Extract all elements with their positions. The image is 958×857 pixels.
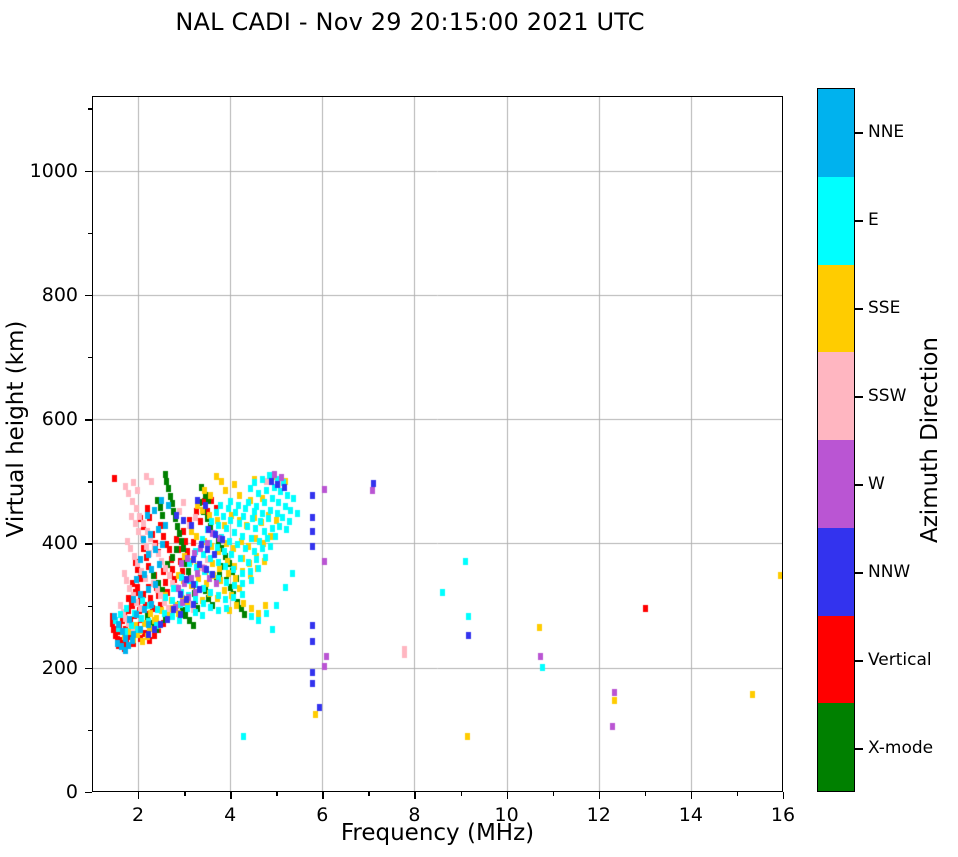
x-axis-tick xyxy=(322,792,323,799)
x-axis-tick xyxy=(783,792,784,799)
colorbar-segment-nnw[interactable] xyxy=(818,528,854,616)
colorbar-title: Azimuth Direction xyxy=(917,337,943,543)
colorbar-label-x-mode: X-mode xyxy=(868,738,933,758)
colorbar-segment-vertical[interactable] xyxy=(818,616,854,704)
x-axis-minor-tick xyxy=(184,792,185,796)
y-axis-tick xyxy=(85,171,92,172)
x-axis-minor-tick xyxy=(645,792,646,796)
y-axis-tick xyxy=(85,668,92,669)
x-axis-minor-tick xyxy=(368,792,369,796)
colorbar-label-sse: SSE xyxy=(868,298,900,318)
colorbar-segment-ssw[interactable] xyxy=(818,352,854,440)
colorbar-segment-w[interactable] xyxy=(818,440,854,528)
y-axis-tick-label: 800 xyxy=(42,284,78,306)
x-axis-tick xyxy=(599,792,600,799)
colorbar-title-wrap: Azimuth Direction xyxy=(930,0,958,857)
x-axis-tick xyxy=(691,792,692,799)
colorbar-tick xyxy=(855,132,863,134)
y-axis-tick xyxy=(85,419,92,420)
y-axis-minor-tick xyxy=(88,606,92,607)
colorbar-segment-nne[interactable] xyxy=(818,89,854,177)
y-axis-tick-label: 0 xyxy=(66,781,78,803)
page-title: NAL CADI - Nov 29 20:15:00 2021 UTC xyxy=(0,8,820,36)
y-axis-tick-label: 1000 xyxy=(30,160,78,182)
colorbar-tick xyxy=(855,572,863,574)
x-axis-minor-tick xyxy=(461,792,462,796)
y-axis-label: Virtual height (km) xyxy=(3,320,29,537)
colorbar-label-ssw: SSW xyxy=(868,386,906,406)
colorbar[interactable] xyxy=(817,88,855,792)
y-axis-minor-tick xyxy=(88,357,92,358)
colorbar-tick xyxy=(855,308,863,310)
colorbar-tick xyxy=(855,484,863,486)
colorbar-label-nne: NNE xyxy=(868,122,904,142)
y-axis-tick-label: 200 xyxy=(42,657,78,679)
x-axis-tick xyxy=(414,792,415,799)
colorbar-tick xyxy=(855,660,863,662)
y-axis-minor-tick xyxy=(88,233,92,234)
colorbar-segment-e[interactable] xyxy=(818,177,854,265)
x-axis-label: Frequency (MHz) xyxy=(0,820,875,846)
x-axis-minor-tick xyxy=(553,792,554,796)
colorbar-tick xyxy=(855,396,863,398)
y-axis-minor-tick xyxy=(88,108,92,109)
x-axis-minor-tick xyxy=(737,792,738,796)
colorbar-tick xyxy=(855,220,863,222)
y-axis-minor-tick xyxy=(88,730,92,731)
colorbar-label-nnw: NNW xyxy=(868,562,910,582)
y-axis-tick-label: 400 xyxy=(42,532,78,554)
colorbar-label-e: E xyxy=(868,210,879,230)
colorbar-label-w: W xyxy=(868,474,885,494)
y-axis-tick xyxy=(85,543,92,544)
colorbar-segment-x-mode[interactable] xyxy=(818,703,854,791)
colorbar-label-vertical: Vertical xyxy=(868,650,932,670)
y-axis-tick xyxy=(85,792,92,793)
x-axis-tick xyxy=(230,792,231,799)
y-axis-tick xyxy=(85,295,92,296)
colorbar-segment-sse[interactable] xyxy=(818,265,854,353)
y-axis-tick-label: 600 xyxy=(42,408,78,430)
x-axis-minor-tick xyxy=(276,792,277,796)
ionogram-plot-page: NAL CADI - Nov 29 20:15:00 2021 UTC Virt… xyxy=(0,0,958,857)
x-axis-tick xyxy=(507,792,508,799)
colorbar-tick xyxy=(855,748,863,750)
x-axis-tick xyxy=(138,792,139,799)
scatter-layer xyxy=(92,96,783,792)
plot-area: 02004006008001000246810121416 xyxy=(92,96,783,792)
y-axis-minor-tick xyxy=(88,481,92,482)
